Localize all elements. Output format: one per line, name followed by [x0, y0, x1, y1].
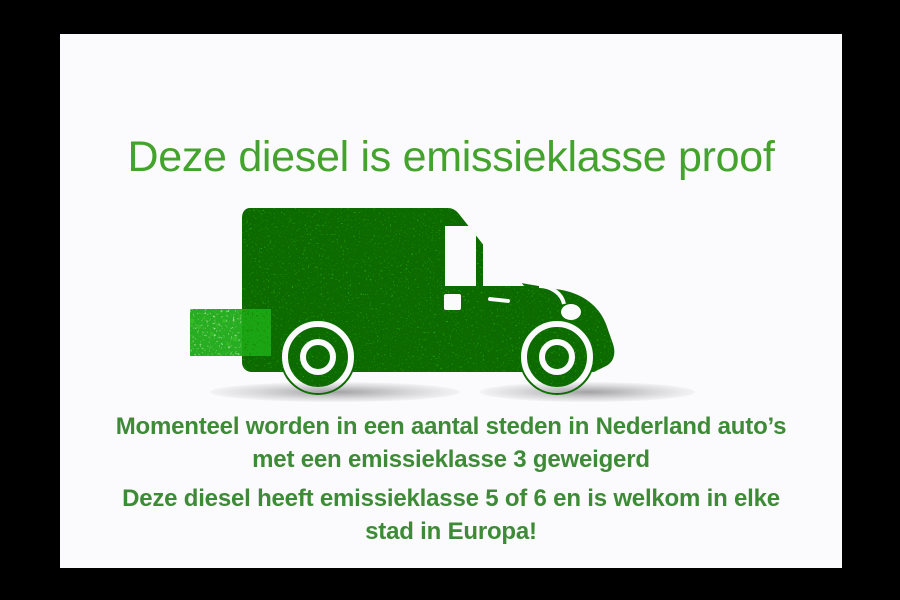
van-body [190, 194, 710, 409]
compliance-notice: Deze diesel heeft emissieklasse 5 of 6 e… [60, 482, 842, 548]
van-graphic [190, 194, 710, 409]
restriction-notice-line-1: Momenteel worden in een aantal steden in… [60, 410, 842, 443]
page-title: Deze diesel is emissieklasse proof [60, 132, 842, 182]
van-illustration [190, 194, 710, 409]
restriction-notice: Momenteel worden in een aantal steden in… [60, 410, 842, 476]
poster-canvas: Deze diesel is emissieklasse proof [60, 34, 842, 568]
poster-frame: Deze diesel is emissieklasse proof [0, 0, 900, 600]
restriction-notice-line-2: met een emissieklasse 3 geweigerd [60, 443, 842, 476]
compliance-notice-line-1: Deze diesel heeft emissieklasse 5 of 6 e… [60, 482, 842, 515]
compliance-notice-line-2: stad in Europa! [60, 515, 842, 548]
